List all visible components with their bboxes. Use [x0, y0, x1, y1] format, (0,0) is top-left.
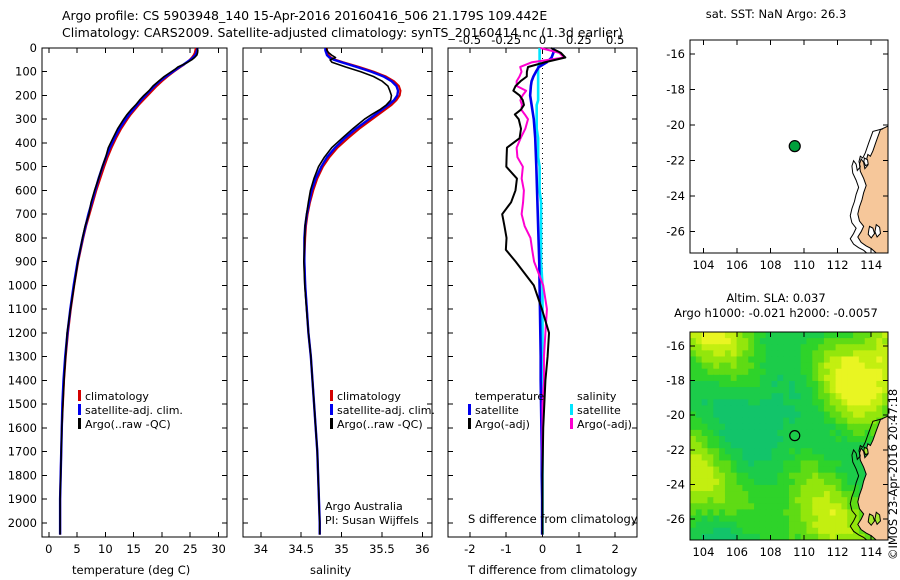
sla-cell — [707, 479, 714, 486]
sla-cell — [772, 485, 779, 492]
sla-cell — [806, 363, 813, 370]
sla-cell — [754, 430, 761, 437]
sla-cell — [748, 454, 755, 461]
sla-cell — [719, 448, 726, 455]
sla-cell — [795, 344, 802, 351]
sla-cell — [719, 528, 726, 535]
sla-cell — [754, 363, 761, 370]
sla-cell — [766, 332, 773, 339]
sla-cell — [731, 485, 738, 492]
sla-cell — [702, 418, 709, 425]
sla-cell — [777, 399, 784, 406]
sla-cell — [696, 375, 703, 382]
sla-cell — [806, 430, 813, 437]
map-y-tick-label: -18 — [666, 83, 685, 97]
x-tick-label-t: 0 — [539, 542, 546, 556]
sla-cell — [702, 393, 709, 400]
sla-cell — [719, 412, 726, 419]
map-x-tick-label: 110 — [793, 258, 815, 272]
sla-cell — [690, 424, 697, 431]
sla-cell — [841, 381, 848, 388]
sla-cell — [859, 424, 866, 431]
sla-cell — [707, 393, 714, 400]
sla-cell — [777, 503, 784, 510]
sla-cell — [876, 356, 883, 363]
sla-cell — [841, 412, 848, 419]
x-tick-label: 34.5 — [288, 542, 314, 556]
map-x-tick-label: 114 — [860, 258, 882, 272]
sla-cell — [748, 436, 755, 443]
sla-cell — [760, 448, 767, 455]
sla-cell — [760, 473, 767, 480]
legend-swatch-sal-argo — [570, 418, 573, 429]
sla-cell — [795, 393, 802, 400]
sla-cell — [876, 399, 883, 406]
sla-cell — [865, 338, 872, 345]
sla-cell — [760, 442, 767, 449]
temperature-legend: climatology satellite-adj. clim. Argo(..… — [78, 390, 183, 432]
map-content — [690, 332, 900, 557]
sla-cell — [783, 454, 790, 461]
sla-cell — [847, 332, 854, 339]
sla-cell — [766, 503, 773, 510]
sla-cell — [876, 350, 883, 357]
sla-cell — [830, 393, 837, 400]
sla-cell — [772, 479, 779, 486]
sla-cell — [806, 381, 813, 388]
sla-cell — [731, 528, 738, 535]
sla-cell — [830, 369, 837, 376]
sla-cell — [713, 332, 720, 339]
sla-cell — [760, 338, 767, 345]
sla-cell — [876, 405, 883, 412]
sla-cell — [853, 424, 860, 431]
sla-cell — [766, 460, 773, 467]
sla-cell — [748, 528, 755, 535]
sla-cell — [818, 479, 825, 486]
sla-cell — [824, 393, 831, 400]
sla-cell — [725, 424, 732, 431]
sla-cell — [702, 448, 709, 455]
sla-cell — [801, 436, 808, 443]
legend-swatch-satellite-adj — [78, 404, 81, 415]
sla-cell — [766, 442, 773, 449]
sla-cell — [702, 485, 709, 492]
sla-cell — [836, 509, 843, 516]
sla-cell — [719, 405, 726, 412]
temperature-plot-frame — [42, 48, 227, 537]
sla-cell — [830, 387, 837, 394]
sla-cell — [702, 503, 709, 510]
sla-cell — [702, 497, 709, 504]
sla-cell — [789, 350, 796, 357]
sla-cell — [719, 497, 726, 504]
legend-swatch-sal-satellite — [570, 404, 573, 415]
sla-cell — [690, 467, 697, 474]
sla-cell — [731, 522, 738, 529]
sla-cell — [801, 467, 808, 474]
sla-cell — [748, 479, 755, 486]
sla-cell — [742, 460, 749, 467]
sla-cell — [853, 350, 860, 357]
x-tick-label: 0 — [45, 542, 52, 556]
sla-cell — [754, 503, 761, 510]
credit-org: Argo Australia — [325, 500, 419, 514]
sla-cell — [696, 332, 703, 339]
sla-cell — [824, 363, 831, 370]
sla-cell — [841, 479, 848, 486]
sla-cell — [731, 412, 738, 419]
sla-cell — [707, 332, 714, 339]
sla-cell — [737, 467, 744, 474]
map-y-tick-label: -20 — [666, 408, 685, 422]
sla-cell — [766, 516, 773, 523]
sla-cell — [812, 528, 819, 535]
sla-cell — [737, 424, 744, 431]
sla-cell — [690, 350, 697, 357]
y-tick-label: 0 — [30, 41, 37, 55]
sla-cell — [789, 344, 796, 351]
sla-cell — [824, 412, 831, 419]
sla-cell — [812, 436, 819, 443]
sla-cell — [731, 350, 738, 357]
sla-cell — [836, 424, 843, 431]
sla-cell — [702, 387, 709, 394]
sla-cell — [801, 485, 808, 492]
sla-cell — [742, 393, 749, 400]
sla-cell — [801, 393, 808, 400]
sla-cell — [702, 479, 709, 486]
sla-cell — [795, 369, 802, 376]
sla-cell — [748, 338, 755, 345]
sla-cell — [707, 448, 714, 455]
sla-cell — [836, 528, 843, 535]
sla-cell — [725, 497, 732, 504]
sla-cell — [777, 363, 784, 370]
sla-cell — [760, 430, 767, 437]
sla-cell — [818, 473, 825, 480]
sla-cell — [766, 528, 773, 535]
sla-cell — [818, 454, 825, 461]
sla-cell — [836, 454, 843, 461]
sla-cell — [742, 436, 749, 443]
sla-cell — [801, 350, 808, 357]
sla-cell — [871, 344, 878, 351]
sla-cell — [690, 436, 697, 443]
sla-cell — [789, 332, 796, 339]
sla-cell — [830, 381, 837, 388]
sla-cell — [859, 356, 866, 363]
map-y-tick-label: -22 — [666, 154, 685, 168]
sla-cell — [707, 491, 714, 498]
sla-cell — [859, 412, 866, 419]
sla-cell — [830, 350, 837, 357]
sla-cell — [812, 418, 819, 425]
map-x-tick-label: 104 — [692, 545, 714, 559]
sla-cell — [719, 436, 726, 443]
sla-cell — [789, 393, 796, 400]
sla-cell — [812, 491, 819, 498]
sla-cell — [789, 369, 796, 376]
sla-cell — [760, 332, 767, 339]
sla-cell — [841, 387, 848, 394]
sla-cell — [865, 393, 872, 400]
sla-cell — [713, 350, 720, 357]
sla-cell — [731, 393, 738, 400]
sla-cell — [812, 509, 819, 516]
map-y-tick-label: -20 — [666, 118, 685, 132]
sla-cell — [696, 338, 703, 345]
sla-cell — [766, 338, 773, 345]
sla-cell — [865, 332, 872, 339]
sla-cell — [806, 442, 813, 449]
sla-cell — [754, 369, 761, 376]
sla-cell — [772, 363, 779, 370]
sla-cell — [760, 491, 767, 498]
sla-cell — [742, 405, 749, 412]
sla-cell — [801, 497, 808, 504]
difference-panel: -2-1012-0.5-0.2500.250.5 — [435, 40, 650, 540]
sla-cell — [830, 516, 837, 523]
sla-cell — [783, 522, 790, 529]
sla-cell — [806, 528, 813, 535]
sla-cell — [795, 418, 802, 425]
sla-cell — [690, 381, 697, 388]
sla-cell — [719, 430, 726, 437]
sla-cell — [696, 528, 703, 535]
sla-cell — [824, 509, 831, 516]
sla-cell — [847, 393, 854, 400]
sla-cell — [801, 405, 808, 412]
sla-cell — [772, 338, 779, 345]
sla-cell — [836, 356, 843, 363]
sla-cell — [690, 369, 697, 376]
sla-cell — [806, 522, 813, 529]
sla-cell — [830, 442, 837, 449]
sla-cell — [696, 516, 703, 523]
sla-cell — [742, 522, 749, 529]
sla-cell — [737, 497, 744, 504]
sla-cell — [818, 387, 825, 394]
sla-cell — [702, 436, 709, 443]
sla-cell — [713, 356, 720, 363]
sla-cell — [806, 473, 813, 480]
sla-cell — [725, 442, 732, 449]
sla-cell — [754, 467, 761, 474]
sla-cell — [806, 405, 813, 412]
map-x-tick-label: 110 — [793, 545, 815, 559]
sla-cell — [783, 473, 790, 480]
sla-cell — [731, 344, 738, 351]
sla-cell — [760, 467, 767, 474]
sla-cell — [713, 412, 720, 419]
sla-cell — [696, 393, 703, 400]
sla-cell — [783, 387, 790, 394]
sla-cell — [783, 424, 790, 431]
sla-cell — [783, 393, 790, 400]
sla-cell — [865, 381, 872, 388]
sla-cell — [806, 344, 813, 351]
sla-cell — [702, 356, 709, 363]
sla-cell — [818, 467, 825, 474]
sla-cell — [777, 424, 784, 431]
sla-cell — [865, 344, 872, 351]
sla-cell — [812, 356, 819, 363]
sla-cell — [777, 460, 784, 467]
sla-cell — [777, 448, 784, 455]
sla-cell — [713, 516, 720, 523]
sla-cell — [841, 528, 848, 535]
sla-cell — [818, 430, 825, 437]
sla-cell — [853, 430, 860, 437]
sla-cell — [742, 387, 749, 394]
sla-cell — [871, 350, 878, 357]
sla-cell — [760, 424, 767, 431]
sla-cell — [836, 369, 843, 376]
sla-cell — [766, 485, 773, 492]
sla-cell — [690, 460, 697, 467]
sla-cell — [824, 503, 831, 510]
sla-cell — [830, 399, 837, 406]
sla-cell — [830, 405, 837, 412]
sla-cell — [818, 418, 825, 425]
sla-cell — [702, 424, 709, 431]
sla-cell — [772, 332, 779, 339]
sla-cell — [713, 503, 720, 510]
sla-cell — [783, 375, 790, 382]
sla-cell — [871, 375, 878, 382]
sla-cell — [748, 473, 755, 480]
sla-cell — [777, 491, 784, 498]
sla-cell — [713, 485, 720, 492]
sla-cell — [859, 381, 866, 388]
sla-cell — [865, 363, 872, 370]
page-title-line1: Argo profile: CS 5903948_140 15-Apr-2016… — [62, 8, 547, 23]
sla-cell — [847, 485, 854, 492]
sla-cell — [812, 430, 819, 437]
sla-cell — [731, 424, 738, 431]
sla-cell — [847, 479, 854, 486]
sla-cell — [725, 332, 732, 339]
sla-cell — [742, 467, 749, 474]
sla-cell — [818, 344, 825, 351]
map-y-tick-label: -16 — [666, 47, 685, 61]
sla-cell — [772, 424, 779, 431]
sla-cell — [731, 516, 738, 523]
sla-cell — [812, 350, 819, 357]
sla-cell — [853, 399, 860, 406]
sla-cell — [789, 363, 796, 370]
sla-cell — [830, 467, 837, 474]
sla-cell — [748, 381, 755, 388]
sla-cell — [713, 424, 720, 431]
sla-cell — [777, 473, 784, 480]
sla-cell — [696, 522, 703, 529]
sla-cell — [818, 516, 825, 523]
x-tick-label: 20 — [155, 542, 170, 556]
sla-cell — [737, 430, 744, 437]
sla-cell — [783, 405, 790, 412]
map-x-tick-label: 114 — [860, 545, 882, 559]
sla-cell — [737, 332, 744, 339]
sla-cell — [859, 436, 866, 443]
float-position-marker — [789, 141, 800, 152]
sla-cell — [853, 332, 860, 339]
x-tick-label-s: -0.5 — [459, 33, 481, 47]
sla-cell — [876, 363, 883, 370]
sla-cell — [836, 393, 843, 400]
sla-cell — [795, 473, 802, 480]
sla-cell — [754, 448, 761, 455]
sla-cell — [725, 363, 732, 370]
sla-cell — [795, 497, 802, 504]
sla-cell — [789, 375, 796, 382]
sla-cell — [742, 448, 749, 455]
temperature-axis-label: temperature (deg C) — [72, 563, 190, 577]
sla-cell — [725, 412, 732, 419]
sla-cell — [818, 375, 825, 382]
sla-cell — [725, 522, 732, 529]
sla-cell — [818, 491, 825, 498]
sla-cell — [737, 363, 744, 370]
sla-cell — [707, 522, 714, 529]
sla-cell — [847, 363, 854, 370]
sla-cell — [806, 375, 813, 382]
sla-cell — [760, 375, 767, 382]
sla-cell — [696, 497, 703, 504]
sla-cell — [737, 528, 744, 535]
sla-cell — [766, 369, 773, 376]
sla-cell — [812, 460, 819, 467]
sla-cell — [725, 430, 732, 437]
sla-cell — [812, 485, 819, 492]
sla-cell — [783, 363, 790, 370]
x-tick-label: 10 — [98, 542, 113, 556]
sla-cell — [742, 375, 749, 382]
sla-cell — [742, 454, 749, 461]
sla-cell — [731, 473, 738, 480]
sla-cell — [754, 381, 761, 388]
sla-cell — [772, 369, 779, 376]
sla-cell — [702, 473, 709, 480]
sla-cell — [702, 338, 709, 345]
legend-heading-salinity-text: salinity — [577, 390, 616, 403]
sla-cell — [719, 369, 726, 376]
sla-cell — [789, 412, 796, 419]
sla-cell — [766, 393, 773, 400]
sla-cell — [737, 412, 744, 419]
temperature-series-0 — [60, 48, 196, 535]
sla-cell — [737, 344, 744, 351]
sla-cell — [719, 522, 726, 529]
sla-cell — [830, 485, 837, 492]
sla-cell — [795, 424, 802, 431]
sla-cell — [731, 375, 738, 382]
sla-cell — [760, 363, 767, 370]
map-y-tick-label: -24 — [666, 478, 685, 492]
x-tick-label: 30 — [211, 542, 226, 556]
sla-cell — [719, 485, 726, 492]
sla-cell — [742, 350, 749, 357]
sla-cell — [725, 460, 732, 467]
sla-cell — [847, 424, 854, 431]
sla-cell — [719, 503, 726, 510]
map-x-tick-label: 112 — [827, 258, 849, 272]
y-tick-label: 500 — [15, 160, 37, 174]
sla-cell — [859, 332, 866, 339]
sla-cell — [742, 528, 749, 535]
sla-cell — [830, 436, 837, 443]
